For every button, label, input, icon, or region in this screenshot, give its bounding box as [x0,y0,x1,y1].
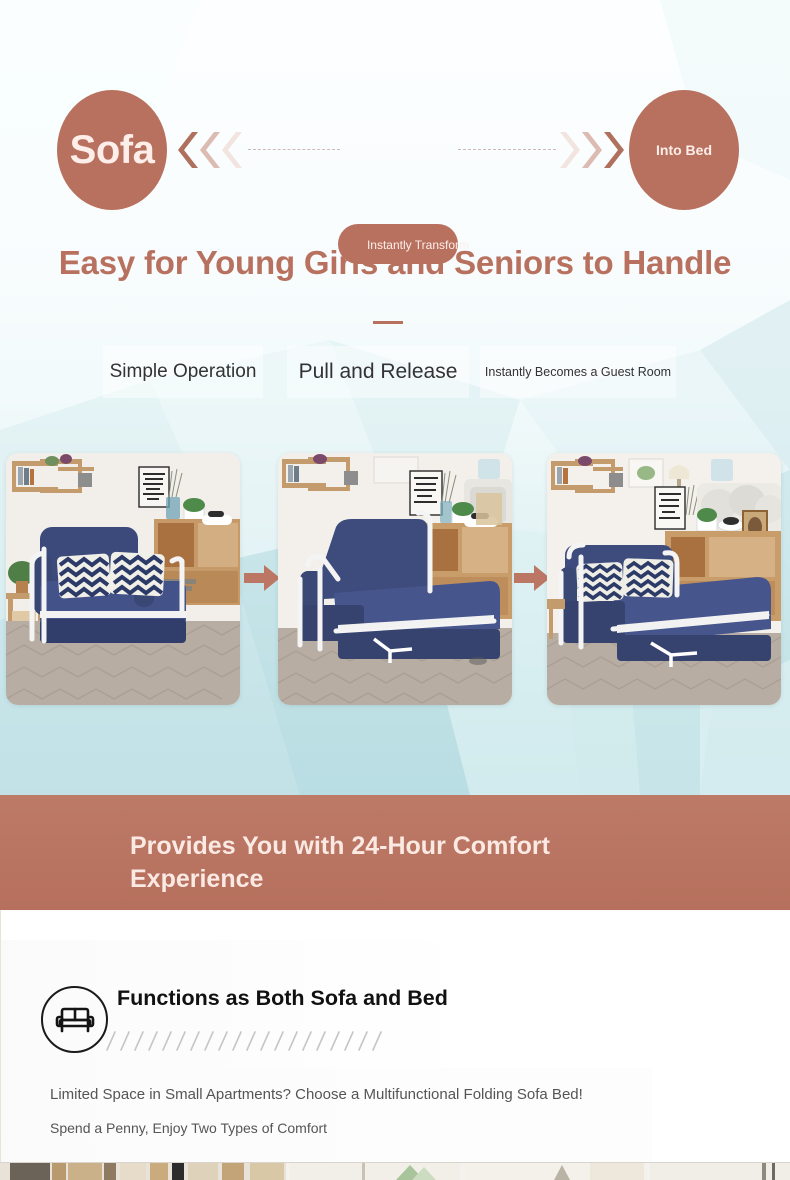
chevron-left-icon [220,130,242,170]
arrow-right-icon [244,561,280,595]
flow-start-badge: Sofa [57,90,167,210]
bottom-text-panel [36,1068,652,1164]
bottom-paragraph-1: Limited Space in Small Apartments? Choos… [50,1084,710,1106]
chevron-right-icon [582,130,604,170]
flow-end-badge: Into Bed [629,90,739,210]
chevron-left-group [176,130,242,170]
feature-label: Simple Operation [110,361,257,383]
chevron-right-group [560,130,626,170]
feature-item-simple-operation: Simple Operation [103,346,263,398]
arrow-right-icon [514,561,550,595]
sofa-icon [55,1006,95,1034]
feature-label: Pull and Release [299,360,458,384]
chevron-right-icon [604,130,626,170]
gallery-photo-sofa[interactable] [6,453,240,705]
flow-start-label: Sofa [70,130,155,170]
gallery-photo-bed[interactable] [547,453,781,705]
feature-item-guest-room: Instantly Becomes a Guest Room [480,346,676,398]
comfort-banner-text: Provides You with 24-Hour Comfort Experi… [130,830,690,896]
bottom-paragraph-2: Spend a Penny, Enjoy Two Types of Comfor… [50,1119,370,1139]
flow-dash-right [458,149,556,150]
product-landing-page: Sofa Instantly Transform [0,0,790,1180]
page-headline: Easy for Young Girls and Seniors to Hand… [0,243,790,283]
bottom-subheading: Functions as Both Sofa and Bed [117,987,537,1010]
transform-flow: Sofa Instantly Transform [0,90,790,210]
flow-end-label: Into Bed [656,143,712,157]
chevron-left-icon [198,130,220,170]
chevron-left-icon [176,130,198,170]
sofa-icon-badge [41,986,108,1053]
feature-item-pull-and-release: Pull and Release [287,346,469,398]
flow-dash-left [248,149,340,150]
transformation-gallery [0,453,790,709]
headline-divider [373,321,403,324]
feature-label-row: Simple Operation Pull and Release Instan… [0,346,790,404]
bottom-photo-strip[interactable] [0,1163,790,1180]
chevron-right-icon [560,130,582,170]
hatch-decoration [105,1030,395,1052]
feature-label: Instantly Becomes a Guest Room [485,365,671,379]
gallery-photo-transforming[interactable] [278,453,512,705]
bottom-left-edge [0,910,1,1163]
